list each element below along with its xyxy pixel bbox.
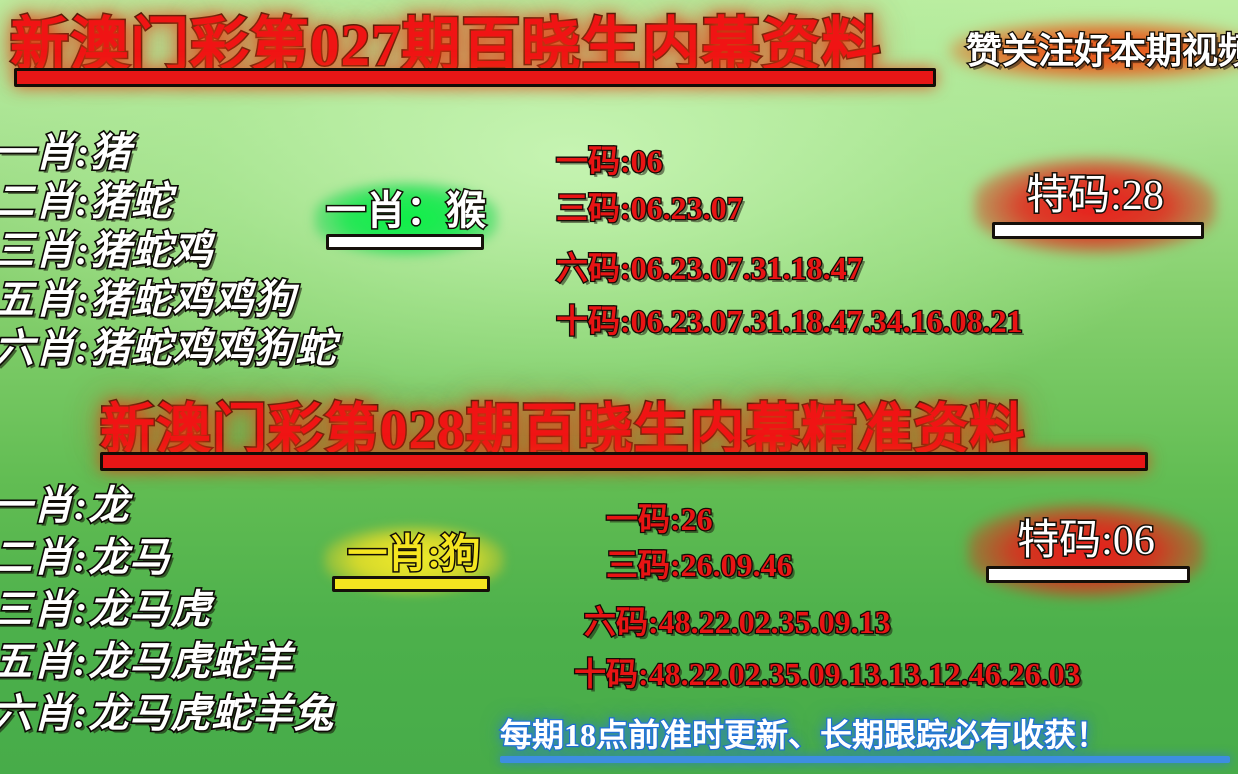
poster-canvas: 新澳门彩第027期百晓生内幕资料 赞关注好本期视频 一肖:猪 二肖:猪蛇 三肖:… (0, 0, 1238, 774)
section-1-pick-label: 一肖：猴 (318, 186, 494, 236)
code-line-six: 六码:48.22.02.35.09.13 (584, 596, 1081, 648)
section-1-title-underline (14, 68, 936, 87)
section-2-zodiac-list: 一肖:龙 二肖:龙马 三肖:龙马虎 五肖:龙马虎蛇羊 六肖:龙马虎蛇羊兔 (0, 480, 334, 740)
zodiac-line: 六肖:龙马虎蛇羊兔 (0, 688, 334, 740)
section-1-pick-underline (326, 234, 484, 250)
code-line-ten: 十码:48.22.02.35.09.13.13.12.46.26.03 (574, 648, 1081, 700)
section-2-title: 新澳门彩第028期百晓生内幕精准资料 (100, 400, 1026, 460)
section-1-pick[interactable]: 一肖：猴 (318, 186, 494, 252)
promo-top-right-label: 赞关注好本期视频 (960, 20, 1238, 82)
promo-top-right[interactable]: 赞关注好本期视频 (960, 20, 1238, 82)
section-2-title-underline (100, 452, 1148, 471)
section-2-pick[interactable]: 一肖:狗 (330, 530, 498, 592)
footer-banner: 每期18点前准时更新、长期跟踪必有收获！ (500, 714, 1238, 770)
code-line-one: 一码:06 (556, 138, 1023, 185)
zodiac-line: 二肖:龙马 (0, 532, 334, 584)
section-1-zodiac-list: 一肖:猪 二肖:猪蛇 三肖:猪蛇鸡 五肖:猪蛇鸡鸡狗 六肖:猪蛇鸡鸡狗蛇 (0, 128, 336, 373)
zodiac-line: 五肖:猪蛇鸡鸡狗 (0, 275, 336, 324)
zodiac-line: 六肖:猪蛇鸡鸡狗蛇 (0, 324, 336, 373)
zodiac-line: 一肖:猪 (0, 128, 336, 177)
section-2-pick-underline (332, 576, 490, 592)
section-2-pick-label: 一肖:狗 (330, 530, 498, 578)
section-1-special[interactable]: 特码:28 (988, 168, 1202, 246)
code-line-ten: 十码:06.23.07.31.18.47.34.16.08.21 (556, 295, 1023, 348)
zodiac-line: 三肖:猪蛇鸡 (0, 226, 336, 275)
section-2-special-underline (986, 566, 1190, 583)
section-2-special[interactable]: 特码:06 (982, 514, 1190, 590)
zodiac-line: 五肖:龙马虎蛇羊 (0, 636, 334, 688)
zodiac-line: 一肖:龙 (0, 480, 334, 532)
section-2-special-label: 特码:06 (982, 514, 1190, 568)
footer-banner-text: 每期18点前准时更新、长期跟踪必有收获！ (500, 714, 1238, 756)
section-1-special-label: 特码:28 (988, 168, 1202, 224)
zodiac-line: 二肖:猪蛇 (0, 177, 336, 226)
section-1-special-underline (992, 222, 1204, 239)
zodiac-line: 三肖:龙马虎 (0, 584, 334, 636)
code-line-three: 三码:06.23.07 (556, 185, 1023, 232)
section-1-code-list: 一码:06 三码:06.23.07 六码:06.23.07.31.18.47 十… (556, 138, 1023, 348)
code-line-six: 六码:06.23.07.31.18.47 (556, 242, 1023, 295)
footer-underline (500, 756, 1230, 763)
section-1-title: 新澳门彩第027期百晓生内幕资料 (10, 14, 882, 76)
